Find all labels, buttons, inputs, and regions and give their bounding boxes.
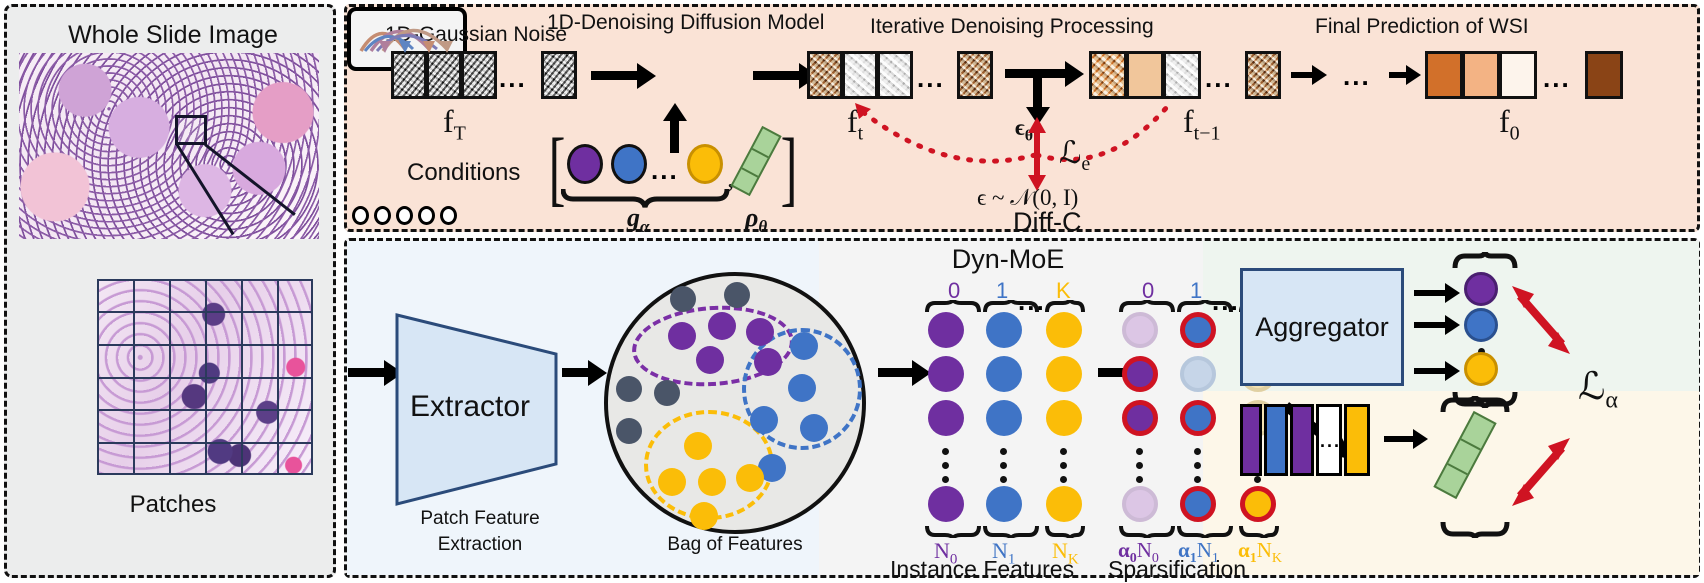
final-tile-0	[1425, 51, 1463, 99]
label-f-tm1: ft−1	[1183, 103, 1221, 145]
noise-tile-fT-last	[541, 51, 577, 99]
noise-tile-ftm1-1	[1126, 51, 1164, 99]
sparse-footer-K-n-sub: K	[1272, 551, 1282, 566]
sparse-dot-1-1-inactive	[1180, 356, 1216, 392]
bag-dot-yellow-2	[698, 468, 726, 496]
sparse-dot-K-last-active	[1240, 486, 1276, 522]
bracket-close: ]	[781, 127, 798, 211]
label-epsilon-theta: ϵθ	[1015, 115, 1033, 146]
condition-dot-purple	[567, 144, 603, 184]
bag-dot-blue-2	[800, 414, 828, 442]
sparse-dot-0-1-active	[1122, 356, 1158, 392]
label-rho-theta: ρθ	[745, 203, 767, 237]
wsi-title: Whole Slide Image	[7, 21, 339, 50]
attention-bar-seg-K	[1344, 404, 1370, 476]
f-0-base: f	[1499, 103, 1510, 139]
noise-tile-ft-last	[957, 51, 993, 99]
bag-dot-yellow-4	[690, 502, 718, 530]
label-loss-e: ℒe	[1059, 135, 1090, 176]
instance-dot-K-last	[1046, 486, 1082, 522]
f-tm1-sub: t−1	[1194, 122, 1221, 144]
arrow-agg-out-1	[1414, 322, 1446, 328]
instance-dot-K-1	[1046, 356, 1082, 392]
instance-dot-K-2	[1046, 400, 1082, 436]
label-conditions: Conditions	[407, 159, 520, 187]
attention-arcs-icon	[347, 7, 467, 71]
condition-dot-yellow	[687, 144, 723, 184]
sparse-dot-1-2-active	[1180, 400, 1216, 436]
arrow-noise-to-model	[591, 71, 639, 80]
sparse-dot-0-0-inactive	[1122, 312, 1158, 348]
noise-tile-ft-1	[842, 51, 878, 99]
extractor-block[interactable]: Extractor	[394, 312, 559, 507]
label-loss-alpha: ℒα	[1578, 364, 1618, 415]
epsilon-sub: θ	[1025, 128, 1033, 145]
instance-vdots-K	[1060, 448, 1067, 483]
instance-dot-K-0	[1046, 312, 1082, 348]
agg-output-dot-blue	[1464, 308, 1498, 342]
label-f-t: ft	[847, 103, 863, 145]
f-t-base: f	[847, 103, 858, 139]
sparse-dot-1-0-active	[1180, 312, 1216, 348]
instance-vdots-0	[942, 448, 949, 483]
instance-dot-0-2	[928, 400, 964, 436]
epsilon-base: ϵ	[1015, 115, 1025, 140]
bag-dot-yellow-3	[736, 464, 764, 492]
instance-dot-1-0	[986, 312, 1022, 348]
final-tile-2	[1499, 51, 1537, 99]
loss-e-base: ℒ	[1059, 135, 1081, 170]
final-tile-last	[1585, 51, 1623, 99]
sparse-footer-K-n: N	[1257, 538, 1272, 562]
extraction-caption-line1: Patch Feature	[400, 508, 560, 530]
rho-sub: θ	[758, 217, 767, 236]
agg-output-dot-purple	[1464, 272, 1498, 306]
extractor-label: Extractor	[410, 390, 530, 424]
sparse-vdots-0	[1136, 448, 1143, 483]
bag-dot-blue-3	[750, 406, 778, 434]
bag-of-features	[604, 272, 866, 534]
noise-tile-ft-2	[877, 51, 913, 99]
instance-dot-1-1	[986, 356, 1022, 392]
bag-dot-slate-2	[616, 376, 642, 402]
f-t-sub: t	[858, 122, 864, 144]
bag-dot-purple-0	[668, 322, 696, 350]
rho-token-bar	[730, 126, 781, 196]
instance-dot-0-1	[928, 356, 964, 392]
roi-selection-box[interactable]	[175, 115, 207, 145]
bag-dot-slate-4	[616, 418, 642, 444]
bag-dot-blue-0	[790, 332, 818, 360]
arrow-bar-to-rho	[1384, 436, 1414, 442]
title-iterative-denoising: Iterative Denoising Processing	[870, 15, 1154, 39]
bag-dot-slate-1	[724, 282, 750, 308]
arrow-ftm1-next	[1291, 72, 1313, 78]
bag-caption: Bag of Features	[604, 534, 866, 556]
bag-dot-yellow-0	[684, 432, 712, 460]
condition-dot-blue	[611, 144, 647, 184]
ellipsis-fT: ...	[499, 65, 527, 91]
ellipsis-chain: ...	[1343, 63, 1371, 89]
title-final-prediction: Final Prediction of WSI	[1315, 15, 1529, 39]
instance-dot-1-last	[986, 486, 1022, 522]
sparse-dot-0-2-active	[1122, 400, 1158, 436]
patches-label: Patches	[7, 491, 339, 519]
arrow-agg-out-K	[1414, 368, 1446, 374]
dyn-moe-title: Dyn-MoE	[816, 244, 1200, 275]
agg-output-dot-yellow	[1464, 352, 1498, 386]
ellipsis-ftm1: ...	[1205, 65, 1233, 91]
bag-dot-purple-3	[696, 346, 724, 374]
arrow-patches-to-extractor	[348, 368, 386, 377]
instance-dot-1-2	[986, 400, 1022, 436]
arrow-epsilon-theta	[1033, 77, 1042, 109]
arrow-model-to-ft	[753, 71, 801, 80]
panel-whole-slide-image: Whole Slide Image Patches	[4, 4, 336, 578]
extraction-caption-line2: Extraction	[400, 534, 560, 556]
sparsification-caption: Sparsification	[1108, 556, 1246, 583]
ellipsis-ft: ...	[917, 65, 945, 91]
g-base: g	[627, 203, 640, 232]
noise-tile-ftm1-last	[1245, 51, 1281, 99]
g-sub: α	[640, 217, 649, 236]
noise-tile-ft-0	[807, 51, 843, 99]
attention-bar-seg-1	[1264, 404, 1288, 476]
bag-dot-purple-4	[754, 348, 782, 376]
attention-bar-seg-0	[1240, 404, 1262, 476]
noise-tile-ftm1-2	[1163, 51, 1201, 99]
f-tm1-base: f	[1183, 103, 1194, 139]
whole-slide-image-thumbnail	[19, 53, 319, 239]
loss-alpha-sub: α	[1605, 388, 1618, 414]
sparse-vdots-1	[1194, 448, 1201, 483]
arrow-extractor-to-bag	[562, 368, 590, 377]
arrow-bag-to-instances	[878, 368, 914, 377]
aggregator-block[interactable]: Aggregator	[1240, 268, 1404, 386]
figure-root: Whole Slide Image Patches 1D-Gaussian No…	[0, 0, 1704, 582]
instance-dot-0-last	[928, 486, 964, 522]
loss-alpha-base: ℒ	[1578, 366, 1605, 408]
label-g-alpha: gα	[627, 203, 649, 237]
f-0-sub: 0	[1510, 122, 1520, 144]
rho-base: ρ	[745, 203, 758, 232]
loss-e-sub: e	[1081, 153, 1090, 175]
sparse-dot-0-last-inactive	[1122, 486, 1158, 522]
patch-grid	[97, 279, 313, 475]
ellipsis-f0: ...	[1543, 65, 1571, 91]
label-f-0: f0	[1499, 103, 1520, 145]
arrow-agg-out-0	[1414, 290, 1446, 296]
noise-tile-ftm1-0	[1089, 51, 1127, 99]
bag-dot-purple-1	[708, 312, 736, 340]
instance-vdots-1	[1000, 448, 1007, 483]
instance-brace-bottom-group	[925, 524, 1085, 538]
denoising-model-box[interactable]	[347, 7, 467, 71]
attention-bar-seg-2	[1290, 404, 1314, 476]
sparse-brace-bottom-group	[1119, 524, 1279, 538]
instance-features-caption: Instance Features	[890, 556, 1074, 583]
f-T-sub: T	[454, 122, 466, 144]
title-denoising-model: 1D-Denoising Diffusion Model	[547, 11, 824, 35]
bag-dot-blue-1	[788, 374, 816, 402]
bag-dot-slate-0	[670, 286, 696, 312]
arrow-to-f0	[1389, 72, 1407, 78]
bag-dot-slate-3	[654, 380, 680, 406]
instance-dot-0-0	[928, 312, 964, 348]
f-T-base: f	[443, 103, 454, 139]
bag-dot-purple-2	[746, 318, 774, 346]
arrow-conditions-to-model	[670, 119, 679, 153]
sparse-dot-1-last-active	[1180, 486, 1216, 522]
bag-dot-yellow-1	[658, 468, 686, 496]
label-diff-c: Diff-C	[1013, 207, 1082, 238]
sparse-footer-K-alpha-sub: 1	[1250, 551, 1257, 566]
ellipsis-conditions: ...	[651, 157, 679, 183]
attention-bar-ellipsis: ...	[1320, 432, 1341, 450]
final-tile-1	[1462, 51, 1500, 99]
aggregator-label: Aggregator	[1255, 312, 1389, 343]
panel-diff-c: 1D-Gaussian Noise 1D-Denoising Diffusion…	[344, 4, 1700, 232]
label-f-T: fT	[443, 103, 466, 145]
